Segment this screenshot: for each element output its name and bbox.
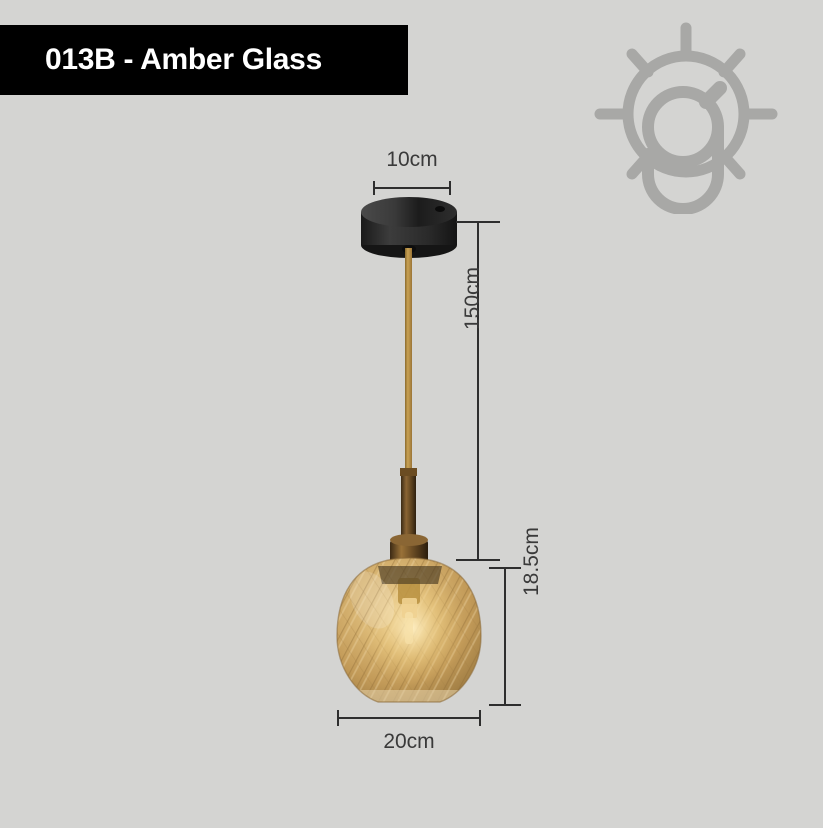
page-title: 013B - Amber Glass <box>0 43 322 77</box>
canopy <box>361 197 457 258</box>
dimension-label-canopy-width: 10cm <box>374 148 450 172</box>
title-banner: 013B - Amber Glass <box>0 25 408 95</box>
dimension-label-shade-height: 18.5cm <box>520 527 544 596</box>
dimension-lines <box>338 181 521 726</box>
cord <box>405 248 412 476</box>
light-bulb-rays-logo <box>586 14 786 214</box>
dimension-label-shade-width: 20cm <box>338 730 480 754</box>
rod <box>400 468 417 562</box>
lamp-holder <box>390 534 428 574</box>
glass-shade <box>330 550 490 710</box>
dimension-label-cord-length: 150cm <box>461 267 485 330</box>
